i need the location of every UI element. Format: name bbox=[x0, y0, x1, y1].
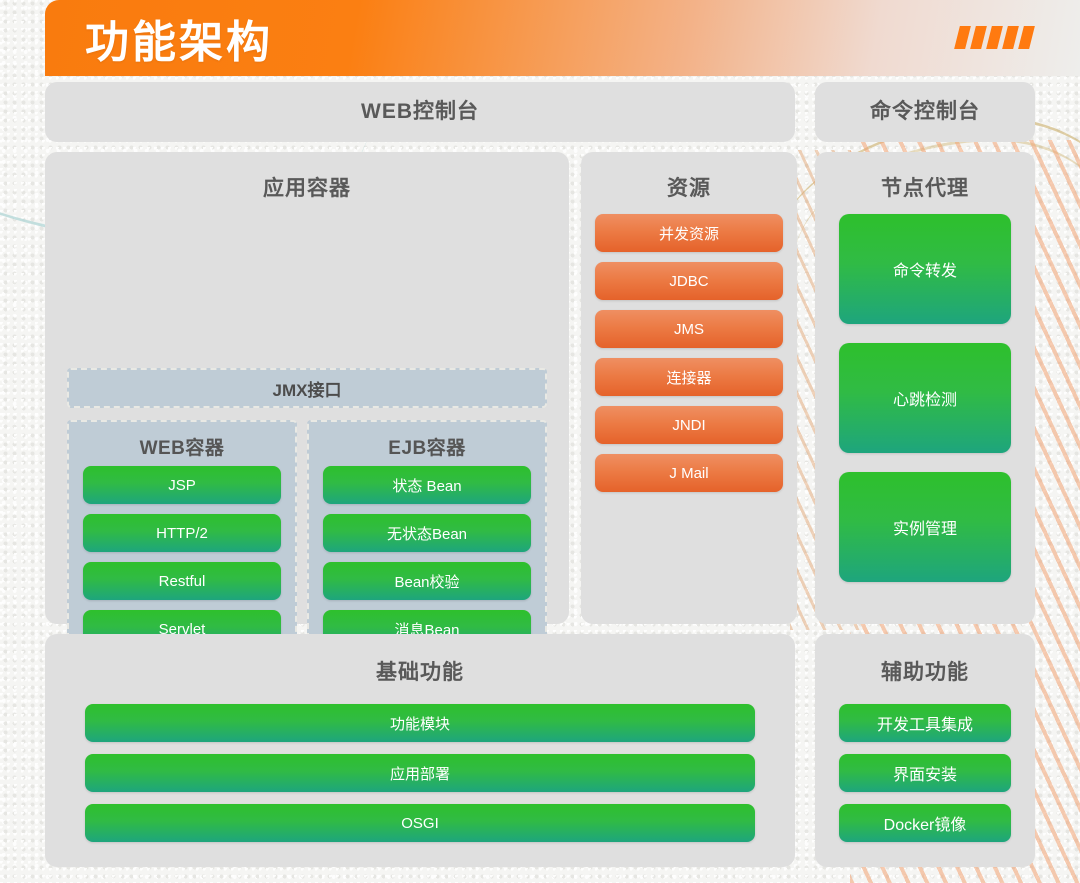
chip-item[interactable]: 应用部署 bbox=[85, 754, 755, 792]
chip-item[interactable]: HTTP/2 bbox=[83, 514, 281, 552]
chip-item[interactable]: JNDI bbox=[595, 406, 783, 444]
jmx-interface-label: JMX接口 bbox=[273, 376, 342, 401]
panel-command-console[interactable]: 命令控制台 bbox=[815, 82, 1035, 142]
chip-item[interactable]: 状态 Bean bbox=[323, 466, 531, 504]
command-console-title: 命令控制台 bbox=[815, 82, 1035, 142]
ejb-container-chip-list: 状态 Bean 无状态Bean Bean校验 消息Bean bbox=[323, 466, 531, 648]
panel-base-functions[interactable]: 基础功能 功能模块 应用部署 OSGI bbox=[45, 634, 795, 867]
slash-mark-icon bbox=[970, 26, 987, 49]
chip-item[interactable]: 命令转发 bbox=[839, 214, 1011, 324]
panel-web-console[interactable]: WEB控制台 bbox=[45, 82, 795, 142]
panel-app-container[interactable]: 应用容器 JMX接口 WEB容器 JSP HTTP/2 Restful Serv… bbox=[45, 152, 569, 624]
chip-item[interactable]: J Mail bbox=[595, 454, 783, 492]
chip-item[interactable]: 开发工具集成 bbox=[839, 704, 1011, 742]
chip-item[interactable]: JDBC bbox=[595, 262, 783, 300]
aux-functions-chip-list: 开发工具集成 界面安装 Docker镜像 bbox=[839, 704, 1011, 842]
page-title: 功能架构 bbox=[85, 6, 273, 70]
chip-item[interactable]: 心跳检测 bbox=[839, 343, 1011, 453]
chip-item[interactable]: Restful bbox=[83, 562, 281, 600]
chip-item[interactable]: 实例管理 bbox=[839, 472, 1011, 582]
base-functions-chip-list: 功能模块 应用部署 OSGI bbox=[85, 704, 755, 842]
aux-functions-title: 辅助功能 bbox=[815, 656, 1035, 686]
chip-item[interactable]: 连接器 bbox=[595, 358, 783, 396]
node-agent-chip-list: 命令转发 心跳检测 实例管理 bbox=[839, 214, 1011, 582]
slash-mark-icon bbox=[1002, 26, 1019, 49]
slash-mark-icon bbox=[954, 26, 971, 49]
chip-item[interactable]: 界面安装 bbox=[839, 754, 1011, 792]
chip-item[interactable]: 功能模块 bbox=[85, 704, 755, 742]
chip-item[interactable]: Bean校验 bbox=[323, 562, 531, 600]
chip-item[interactable]: OSGI bbox=[85, 804, 755, 842]
web-container-title: WEB容器 bbox=[69, 433, 295, 460]
ejb-container-title: EJB容器 bbox=[309, 433, 545, 460]
chip-item[interactable]: JSP bbox=[83, 466, 281, 504]
slash-mark-icon bbox=[986, 26, 1003, 49]
web-console-title: WEB控制台 bbox=[45, 82, 795, 142]
chip-item[interactable]: Docker镜像 bbox=[839, 804, 1011, 842]
panel-resources[interactable]: 资源 并发资源 JDBC JMS 连接器 JNDI J Mail bbox=[581, 152, 797, 624]
node-agent-title: 节点代理 bbox=[815, 172, 1035, 202]
resources-title: 资源 bbox=[581, 172, 797, 202]
slash-marks-icon bbox=[957, 26, 1032, 49]
panel-node-agent[interactable]: 节点代理 命令转发 心跳检测 实例管理 bbox=[815, 152, 1035, 624]
app-container-title: 应用容器 bbox=[45, 172, 569, 202]
resources-chip-list: 并发资源 JDBC JMS 连接器 JNDI J Mail bbox=[595, 214, 783, 492]
jmx-interface-bar[interactable]: JMX接口 bbox=[67, 368, 547, 408]
base-functions-title: 基础功能 bbox=[45, 656, 795, 686]
chip-item[interactable]: 无状态Bean bbox=[323, 514, 531, 552]
chip-item[interactable]: JMS bbox=[595, 310, 783, 348]
panel-aux-functions[interactable]: 辅助功能 开发工具集成 界面安装 Docker镜像 bbox=[815, 634, 1035, 867]
chip-item[interactable]: 并发资源 bbox=[595, 214, 783, 252]
